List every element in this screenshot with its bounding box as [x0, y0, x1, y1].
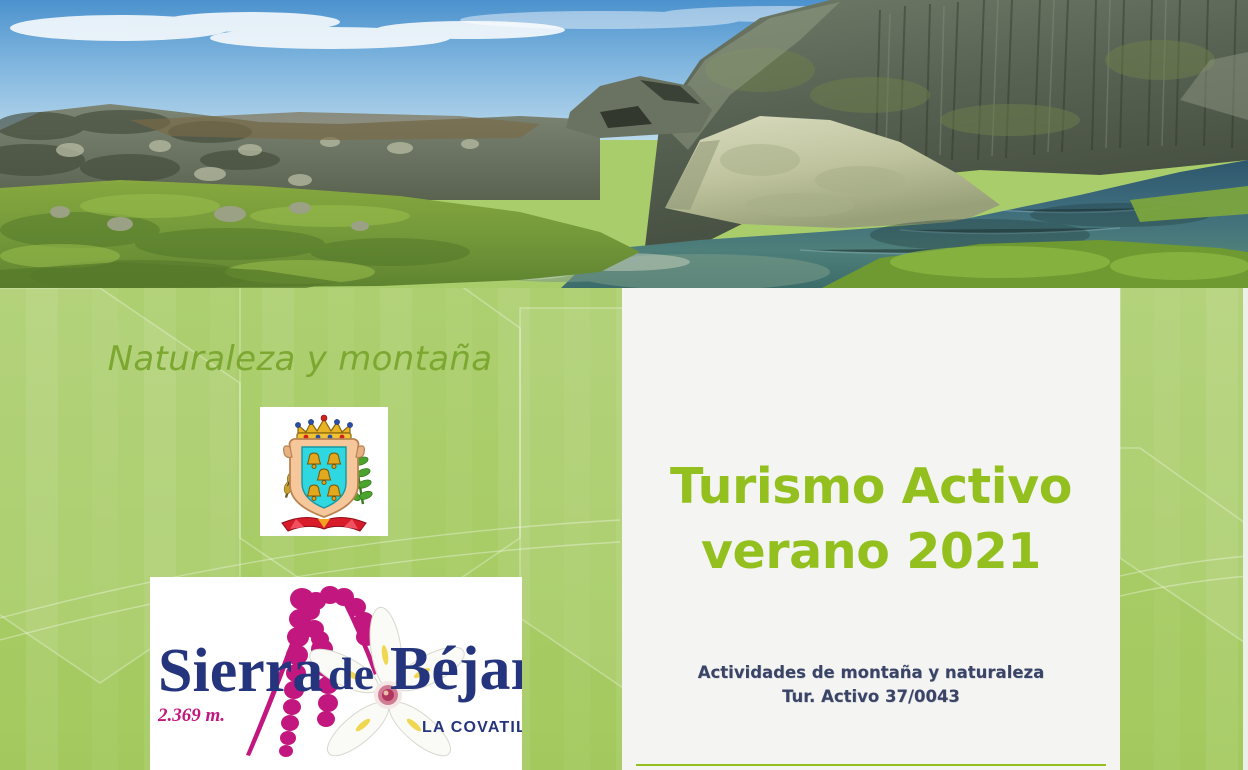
- slide-subtitle: Actividades de montaña y naturaleza Tur.…: [622, 661, 1120, 709]
- right-edge-strip: [1243, 288, 1248, 770]
- sierra-de-bejar-logo: Sierra de Béjar 2.369 m. LA COVATILLA: [150, 577, 522, 770]
- svg-text:2.369 m.: 2.369 m.: [157, 705, 225, 726]
- svg-text:Sierra: Sierra: [158, 637, 323, 705]
- svg-text:LA COVATILLA: LA COVATILLA: [422, 719, 522, 736]
- slide-title: Turismo Activo verano 2021: [622, 455, 1120, 584]
- slide-subtitle-line2: Tur. Activo 37/0043: [622, 685, 1120, 709]
- hero-photo: [0, 0, 1248, 289]
- bejar-coat-of-arms: [260, 407, 388, 536]
- slide-title-line2: verano 2021: [622, 520, 1120, 585]
- svg-text:Béjar: Béjar: [390, 635, 522, 703]
- panel-bottom-rule: [636, 764, 1106, 766]
- slide-subtitle-line1: Actividades de montaña y naturaleza: [698, 663, 1045, 682]
- slide-title-line1: Turismo Activo: [670, 458, 1072, 515]
- presentation-slide: Naturaleza y montaña: [0, 0, 1248, 770]
- tagline: Naturaleza y montaña: [0, 339, 600, 379]
- svg-text:de: de: [328, 648, 374, 699]
